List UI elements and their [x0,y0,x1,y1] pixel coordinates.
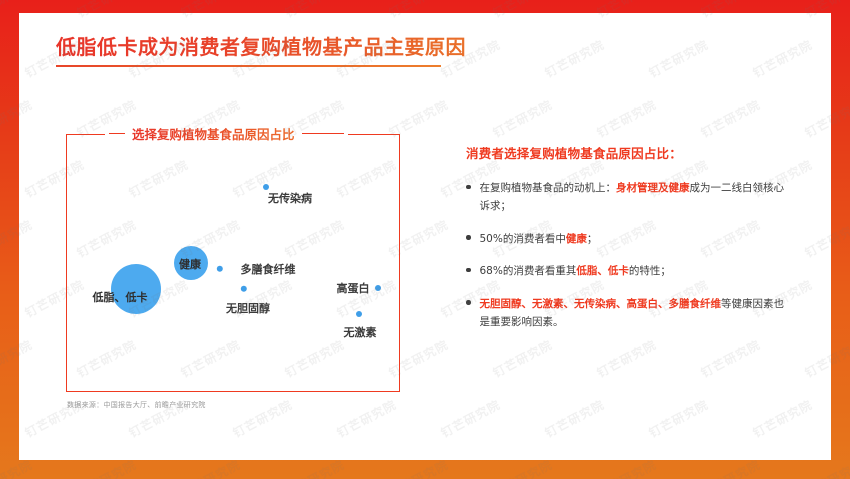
bubble-label: 健康 [179,256,201,272]
bubble-label: 无传染病 [268,190,312,206]
bullet-dot-icon [466,268,471,273]
insight-bullet-text: 68%的消费者看重其低脂、低卡的特性； [480,262,671,280]
bubble-chart-plot-area: 低脂、低卡健康多膳食纤维无胆固醇无传染病高蛋白无激素 [67,135,399,391]
bubble-label: 低脂、低卡 [93,289,148,305]
body-text: 68%的消费者看重其 [480,265,577,277]
insight-panel: 消费者选择复购植物基食品原因占比： 在复购植物基食品的动机上：身材管理及健康成为… [466,143,786,345]
insight-bullet-item: 无胆固醇、无激素、无传染病、高蛋白、多膳食纤维等健康因素也是重要影响因素。 [466,295,786,332]
data-source-note: 数据来源：中国报告大厅、前瞻产业研究院 [67,400,206,410]
highlight-text: 无胆固醇、无激素、无传染病、高蛋白、多膳食纤维 [480,298,722,310]
chart-title-bar: 选择复购植物基食品原因占比 [105,124,348,143]
insight-bullet-list: 在复购植物基食品的动机上：身材管理及健康成为一二线白领核心诉求；50%的消费者看… [466,179,786,331]
bubble-point [241,286,247,292]
chart-title-dash-left-icon [109,133,125,135]
insight-bullet-item: 68%的消费者看重其低脂、低卡的特性； [466,262,786,280]
highlight-text: 低脂、低卡 [576,265,629,277]
chart-card: 选择复购植物基食品原因占比 低脂、低卡健康多膳食纤维无胆固醇无传染病高蛋白无激素 [66,134,400,392]
bubble-label: 高蛋白 [337,280,370,296]
bubble-point [356,311,362,317]
insight-bullet-text: 50%的消费者看中健康； [480,230,598,248]
highlight-text: 健康 [566,233,587,245]
slide-root: 钉芒研究院钉芒研究院钉芒研究院钉芒研究院钉芒研究院钉芒研究院钉芒研究院钉芒研究院… [0,0,850,479]
bullet-dot-icon [466,235,471,240]
body-text: ； [587,233,598,245]
page-title-block: 低脂低卡成为消费者复购植物基产品主要原因 [56,31,466,67]
bubble-label: 无激素 [344,324,377,340]
bubble-point [217,266,223,272]
insight-bullet-item: 在复购植物基食品的动机上：身材管理及健康成为一二线白领核心诉求； [466,179,786,216]
page-title: 低脂低卡成为消费者复购植物基产品主要原因 [56,31,466,60]
insight-panel-heading: 消费者选择复购植物基食品原因占比： [466,143,786,162]
title-underline [56,65,441,67]
bubble-label: 无胆固醇 [226,300,270,316]
bubble-label: 多膳食纤维 [241,261,296,277]
body-text: 50%的消费者看中 [480,233,566,245]
insight-bullet-text: 无胆固醇、无激素、无传染病、高蛋白、多膳食纤维等健康因素也是重要影响因素。 [480,295,787,332]
chart-title: 选择复购植物基食品原因占比 [132,124,295,143]
highlight-text: 身材管理及健康 [616,182,690,194]
bubble-point [375,285,381,291]
body-text: 的特性； [629,265,671,277]
insight-bullet-text: 在复购植物基食品的动机上：身材管理及健康成为一二线白领核心诉求； [480,179,787,216]
bullet-dot-icon [466,300,471,305]
body-text: 在复购植物基食品的动机上： [480,182,617,194]
insight-bullet-item: 50%的消费者看中健康； [466,230,786,248]
chart-title-dash-right-icon [302,133,344,135]
bullet-dot-icon [466,185,471,190]
